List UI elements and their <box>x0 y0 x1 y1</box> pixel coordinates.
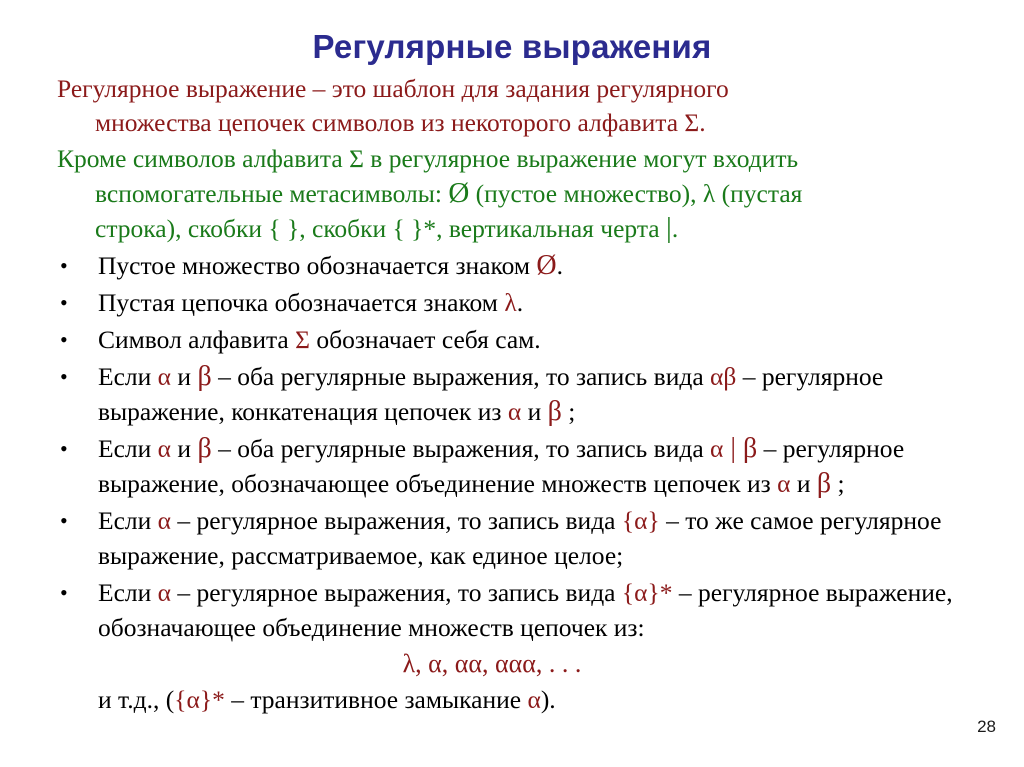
bullet-dot-icon: • <box>60 431 70 466</box>
slide-body: Регулярное выражение – это шаблон для за… <box>0 72 1024 717</box>
bullet-dot-icon: • <box>60 575 70 610</box>
rule-0-part-2: . <box>557 251 563 280</box>
bullet-dot-icon: • <box>60 359 70 394</box>
list-item-text: Если α – регулярное выражения, то запись… <box>98 575 998 645</box>
rule-4-part-7: β <box>743 433 757 464</box>
rule-2-part-1: Σ <box>295 325 310 354</box>
rule-4-part-5: α <box>710 434 723 463</box>
rule-4-part-2: и <box>171 434 197 463</box>
rule-5-part-3: { <box>622 506 634 535</box>
final-note-part-2: α <box>186 685 199 714</box>
rule-5-part-1: α <box>158 506 171 535</box>
list-item: •Пустая цепочка обозначается знаком λ. <box>0 285 1024 320</box>
bullet-dot-icon: • <box>60 248 70 283</box>
rule-6-part-2: – регулярное выражения, то запись вида <box>171 578 622 607</box>
braces-star-symbol-icon: { }* <box>393 214 437 243</box>
rule-6-part-4: α <box>634 578 647 607</box>
list-item-text: Если α и β – оба регулярные выражения, т… <box>98 431 998 501</box>
final-note-part-0: и т.д., ( <box>98 685 174 714</box>
rule-2-part-0: Символ алфавита <box>98 325 295 354</box>
rule-4-part-3: β <box>197 433 211 464</box>
list-item-text: Если α и β – оба регулярные выражения, т… <box>98 359 998 429</box>
rule-4-part-0: Если <box>98 434 158 463</box>
rule-4-part-1: α <box>158 434 171 463</box>
metasymbols-text-c: (пустая <box>715 179 802 208</box>
list-item: •Если α – регулярное выражения, то запис… <box>0 575 1024 645</box>
slide-canvas: Регулярные выражения Регулярное выражени… <box>0 0 1024 767</box>
rule-4-part-9: α <box>777 469 790 498</box>
rule-6-part-0: Если <box>98 578 158 607</box>
rule-5-part-4: α <box>634 506 647 535</box>
metasymbols-text-a: вспомогательные метасимволы: <box>95 179 448 208</box>
metasymbols-text-e: , скобки <box>299 214 392 243</box>
rule-3-part-1: α <box>158 362 171 391</box>
metasymbols-line-1: Кроме символов алфавита Σ в регулярное в… <box>57 144 798 173</box>
rule-0-part-1: Ø <box>536 250 556 281</box>
rule-3-part-9: β <box>548 396 562 427</box>
rule-5-part-0: Если <box>98 506 158 535</box>
page-number: 28 <box>977 717 996 737</box>
rule-4-part-12: ; <box>831 469 844 498</box>
rule-3-part-2: и <box>171 362 197 391</box>
list-item: •Если α – регулярное выражения, то запис… <box>0 503 1024 573</box>
list-item: •Если α и β – оба регулярные выражения, … <box>0 431 1024 501</box>
metasymbols-text-f: , вертикальная черта <box>436 214 666 243</box>
final-note-part-6: ). <box>541 685 556 714</box>
final-note-part-4: – транзитивное замыкание <box>225 685 528 714</box>
rules-list: •Пустое множество обозначается знаком Ø.… <box>0 248 1024 645</box>
rule-3-part-8: и <box>521 397 547 426</box>
list-item-text: Если α – регулярное выражения, то запись… <box>98 503 998 573</box>
rule-3-part-7: α <box>508 397 521 426</box>
rule-4-part-6: | <box>723 433 743 464</box>
empty-set-symbol-icon: Ø <box>448 177 469 209</box>
definition-line-1: Регулярное выражение – это шаблон для за… <box>57 74 729 103</box>
intro-paragraph-metasymbols: Кроме символов алфавита Σ в регулярное в… <box>0 142 1024 246</box>
metasymbols-text-g: . <box>672 214 678 243</box>
rule-3-part-0: Если <box>98 362 158 391</box>
rule-6-part-1: α <box>158 578 171 607</box>
example-chain-line: λ, α, αα, ααα, . . . <box>0 647 1024 681</box>
list-item: •Если α и β – оба регулярные выражения, … <box>0 359 1024 429</box>
rule-1-part-1: λ <box>504 288 516 317</box>
bullet-dot-icon: • <box>60 322 70 357</box>
metasymbols-text-d: строка), скобки <box>95 214 268 243</box>
final-note-part-5: α <box>527 685 540 714</box>
lambda-symbol-icon: λ <box>703 179 715 208</box>
rule-4-part-10: и <box>790 469 816 498</box>
metasymbols-text-b: (пустое множество), <box>469 179 703 208</box>
bullet-dot-icon: • <box>60 503 70 538</box>
final-note-part-3: }* <box>200 685 225 714</box>
page-title: Регулярные выражения <box>0 28 1024 66</box>
rule-4-part-11: β <box>817 468 831 499</box>
list-item-text: Пустая цепочка обозначается знаком λ. <box>98 285 998 320</box>
list-item-text: Пустое множество обозначается знаком Ø. <box>98 248 998 283</box>
rule-6-part-5: }* <box>648 578 673 607</box>
bullet-dot-icon: • <box>60 285 70 320</box>
final-note-part-1: { <box>174 685 186 714</box>
rule-0-part-0: Пустое множество обозначается знаком <box>98 251 536 280</box>
braces-symbol-icon: { } <box>268 214 299 243</box>
rule-3-part-10: ; <box>562 397 575 426</box>
rule-6-part-3: { <box>622 578 634 607</box>
metasymbols-line-2: вспомогательные метасимволы: Ø (пустое м… <box>58 176 1006 211</box>
final-note-line: и т.д., ({α}* – транзитивное замыкание α… <box>0 683 1024 717</box>
rule-3-part-3: β <box>197 361 211 392</box>
rule-2-part-2: обозначает себя сам. <box>310 325 541 354</box>
rule-1-part-0: Пустая цепочка обозначается знаком <box>98 288 504 317</box>
rule-5-part-2: – регулярное выражения, то запись вида <box>171 506 622 535</box>
list-item-text: Символ алфавита Σ обозначает себя сам. <box>98 322 998 357</box>
definition-line-2: множества цепочек символов из некоторого… <box>58 106 1006 140</box>
rule-1-part-2: . <box>517 288 523 317</box>
rule-5-part-5: } <box>648 506 660 535</box>
list-item: •Символ алфавита Σ обозначает себя сам. <box>0 322 1024 357</box>
metasymbols-line-3: строка), скобки { }, скобки { }*, вертик… <box>58 211 1006 246</box>
rule-3-part-5: αβ <box>710 362 736 391</box>
list-item: •Пустое множество обозначается знаком Ø. <box>0 248 1024 283</box>
rule-4-part-4: – оба регулярные выражения, то запись ви… <box>212 434 710 463</box>
rule-3-part-4: – оба регулярные выражения, то запись ви… <box>212 362 710 391</box>
intro-paragraph-definition: Регулярное выражение – это шаблон для за… <box>0 72 1024 140</box>
